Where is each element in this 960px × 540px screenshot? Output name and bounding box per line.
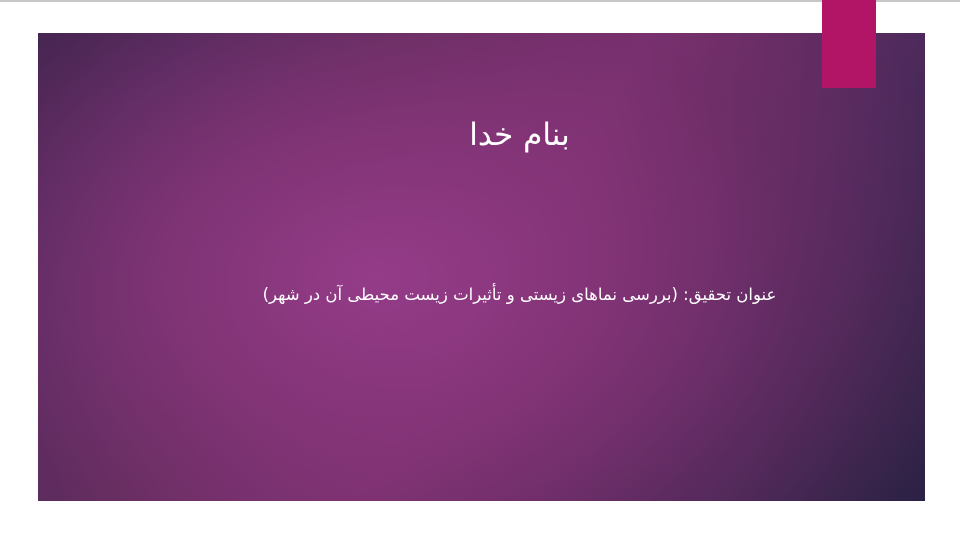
- accent-rectangle: [822, 0, 876, 88]
- slide-vignette-overlay: [38, 33, 925, 501]
- slide-title-text: بنام خدا: [76, 113, 925, 157]
- top-edge-divider: [0, 0, 960, 2]
- slide-canvas[interactable]: بنام خدا عنوان تحقیق: (بررسی نماهای زیست…: [38, 33, 925, 501]
- subtitle-placeholder[interactable]: عنوان تحقیق: (بررسی نماهای زیستی و تأثیر…: [76, 281, 925, 309]
- document-page: بنام خدا عنوان تحقیق: (بررسی نماهای زیست…: [0, 0, 960, 540]
- title-placeholder[interactable]: بنام خدا: [76, 113, 925, 157]
- slide-subtitle-text: عنوان تحقیق: (بررسی نماهای زیستی و تأثیر…: [76, 281, 925, 309]
